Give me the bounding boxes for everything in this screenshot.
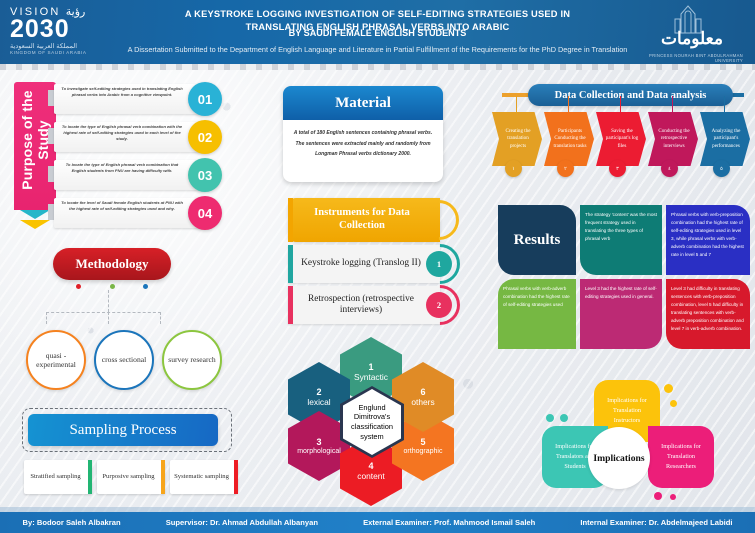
methodology-item-survey-research: survey research — [162, 330, 222, 390]
instrument-edge — [288, 245, 293, 283]
implications-dot-teal-icon — [546, 414, 554, 422]
purpose-item-number: 02 — [188, 120, 222, 154]
purpose-item: To locate the type of English phrasal ve… — [54, 158, 226, 192]
footer-internal-examiner: Internal Examiner: Dr. Abdelmajeed Labid… — [580, 518, 732, 527]
instrument-label: Retrospection (retrospective interviews) — [296, 294, 426, 317]
material-title: Material — [283, 86, 443, 120]
instruments-section: Instruments for Data Collection Keystrok… — [288, 198, 453, 328]
sampling-item-purposive: Purposive sampling — [97, 460, 165, 494]
data-collection-steps: Creating the translation projects ١ Part… — [492, 112, 748, 166]
dca-step-chevron: Conducting the retrospective interviews — [648, 112, 698, 166]
university-name-arabic: معلومات — [661, 29, 723, 49]
material-line: Longman Phrasal verbs dictionary 2000. — [290, 149, 436, 160]
footer-external-examiner: External Examiner: Prof. Mahmood Ismail … — [363, 518, 535, 527]
hex-label: orthographic — [402, 448, 445, 455]
research-poster: VISION رؤية 2030 المملكة العربية السعودي… — [0, 0, 755, 533]
dca-step-stem — [724, 96, 725, 112]
instrument-keystroke-logging: Keystroke logging (Translog II) 1 — [288, 245, 440, 283]
dca-step-creating-projects: Creating the translation projects ١ — [492, 112, 542, 166]
instrument-edge — [288, 286, 293, 324]
poster-header: VISION رؤية 2030 المملكة العربية السعودي… — [0, 0, 755, 64]
instrument-label: Keystroke logging (Translog II) — [301, 258, 421, 269]
hex-number: 3 — [316, 437, 321, 447]
dca-step-chevron: Participants Conducting the translation … — [544, 112, 594, 166]
instrument-retrospection: Retrospection (retrospective interviews)… — [288, 286, 440, 324]
sampling-title: Sampling Process — [28, 414, 218, 446]
footer-author: By: Bodoor Saleh Albakran — [23, 518, 121, 527]
dca-step-retrospective-interviews: Conducting the retrospective interviews … — [648, 112, 698, 166]
dca-step-label: Conducting the retrospective interviews — [656, 128, 692, 151]
kingdom-arabic: المملكة العربية السعودية — [10, 42, 130, 50]
sampling-items: Stratified sampling Purposive sampling S… — [24, 460, 239, 494]
purpose-items-list: To investigate self-editing strategies u… — [54, 82, 226, 234]
instrument-row: Retrospection (retrospective interviews)… — [288, 286, 453, 324]
result-card-verb-adverb: Phrasal verbs with verb-adverb combinati… — [498, 279, 576, 349]
university-logo: معلومات PRINCESS NOURAH BINT ABDULRAHMAN… — [629, 3, 749, 63]
dca-step-label: Creating the translation projects — [500, 128, 536, 151]
implications-dot-pink-icon — [654, 492, 662, 500]
dca-step-stem — [672, 96, 673, 112]
purpose-item-number: 04 — [188, 196, 222, 230]
sampling-item-systematic: Systematic sampling — [170, 460, 238, 494]
purpose-item: To investigate self-editing strategies u… — [54, 82, 226, 116]
data-collection-analysis-section: Data Collection and Data analysis Creati… — [492, 84, 748, 188]
instrument-number-badge: 2 — [426, 292, 452, 318]
material-card: Material A total of 180 English sentence… — [283, 86, 443, 182]
dca-step-stem — [620, 96, 621, 112]
dca-step-label: Participants Conducting the translation … — [552, 128, 588, 151]
dca-step-number: ٤ — [661, 160, 678, 177]
hex-center-label: Englund Dimitrova's classification syste… — [343, 389, 401, 455]
dca-step-conducting-tasks: Participants Conducting the translation … — [544, 112, 594, 166]
implications-dot-yellow-icon — [670, 400, 677, 407]
dot-blue-icon — [143, 284, 148, 289]
classification-hexagon-diagram: 1 Syntactic 2 lexical 3 morphological 4 … — [282, 335, 460, 507]
sampling-item-label: Purposive sampling — [102, 472, 154, 482]
dca-step-stem — [516, 96, 517, 112]
hex-label: others — [409, 398, 436, 407]
dca-step-chevron: Analyzing the participant's performances — [700, 112, 750, 166]
dca-step-stem — [568, 96, 569, 112]
footer-supervisor: Supervisor: Dr. Ahmad Abdullah Albanyan — [166, 518, 318, 527]
dca-step-label: Analyzing the participant's performances — [708, 128, 744, 151]
vision-number: 2030 — [10, 18, 130, 42]
implications-center-label: Implications — [588, 427, 650, 489]
result-card-difficulties: Level 3 had difficulty in translating se… — [666, 279, 750, 349]
result-card-level3-highest: Level 3 had the highest rate of self-edi… — [580, 279, 662, 349]
purpose-item-text: To locate the level of Saudi female Engl… — [58, 200, 186, 212]
instrument-row: Keystroke logging (Translog II) 1 — [288, 245, 453, 283]
kingdom-english: KINGDOM OF SAUDI ARABIA — [10, 50, 130, 55]
purpose-item: To locate the level of Saudi female Engl… — [54, 196, 226, 230]
hex-number: 6 — [420, 387, 425, 397]
methodology-item-cross-sectional: cross sectional — [94, 330, 154, 390]
results-grid: Results The strategy 'content' was the m… — [498, 205, 748, 349]
instruments-title-text: Instruments for Data Collection — [296, 207, 428, 233]
purpose-title: Purpose of the Study — [19, 76, 51, 204]
poster-footer: By: Bodoor Saleh Albakran Supervisor: Dr… — [0, 512, 755, 533]
dca-step-number: ١ — [505, 160, 522, 177]
sampling-process-section: Sampling Process Stratified sampling Pur… — [18, 408, 243, 504]
methodology-dots — [76, 284, 148, 289]
data-collection-title: Data Collection and Data analysis — [528, 84, 733, 106]
purpose-item-text: To locate the type of English phrasal ve… — [58, 124, 186, 143]
methodology-connector-lines — [46, 290, 161, 324]
implication-translation-researchers: Implications for Translation Researchers — [648, 426, 714, 488]
poster-subtitle: BY SAUDI FEMALE ENGLISH STUDENTS — [150, 28, 605, 38]
dca-step-label: Saving the participant's log files — [604, 128, 640, 151]
university-name-english: PRINCESS NOURAH BINT ABDULRAHMAN UNIVERS… — [629, 53, 743, 63]
instruments-header-row: Instruments for Data Collection — [288, 198, 453, 242]
methodology-title: Methodology — [53, 248, 171, 280]
methodology-section: Methodology quasi - experimental cross s… — [20, 248, 250, 398]
instruments-title-edge — [288, 198, 293, 242]
purpose-item-text: To investigate self-editing strategies u… — [58, 86, 186, 98]
instruments-title: Instruments for Data Collection — [288, 198, 440, 242]
results-title: Results — [498, 205, 576, 275]
methodology-items: quasi - experimental cross sectional sur… — [26, 330, 246, 390]
dot-green-icon — [110, 284, 115, 289]
dca-step-saving-logs: Saving the participant's log files ٣ — [596, 112, 646, 166]
hex-label: morphological — [295, 448, 343, 455]
purpose-item: To locate the type of English phrasal ve… — [54, 120, 226, 154]
sampling-item-label: Stratified sampling — [30, 472, 80, 482]
sampling-item-label: Systematic sampling — [174, 472, 229, 482]
hex-label: Syntactic — [352, 373, 390, 382]
implications-dot-teal-icon — [560, 414, 568, 422]
dca-step-chevron: Creating the translation projects — [492, 112, 542, 166]
hex-number: 1 — [368, 362, 373, 372]
hex-label: content — [355, 472, 386, 481]
purpose-of-study-section: Purpose of the Study To investigate self… — [14, 82, 226, 234]
methodology-item-quasi-experimental: quasi - experimental — [26, 330, 86, 390]
purpose-item-number: 03 — [188, 158, 222, 192]
dca-step-chevron: Saving the participant's log files — [596, 112, 646, 166]
poster-dissertation-note: A Dissertation Submitted to the Departme… — [120, 45, 635, 54]
dot-red-icon — [76, 284, 81, 289]
implications-dot-yellow-icon — [664, 384, 673, 393]
hex-number: 4 — [368, 461, 373, 471]
vision-2030-logo: VISION رؤية 2030 المملكة العربية السعودي… — [10, 5, 130, 55]
result-card-content-strategy: The strategy 'content' was the most freq… — [580, 205, 662, 275]
material-section: Material A total of 180 English sentence… — [283, 86, 443, 182]
implications-section: Implications for Translation Instructors… — [536, 378, 748, 506]
material-line: A total of 180 English sentences contain… — [290, 128, 436, 139]
material-body: A total of 180 English sentences contain… — [283, 120, 443, 160]
purpose-item-text: To locate the type of English phrasal ve… — [58, 162, 186, 174]
implications-dot-pink-icon — [670, 494, 676, 500]
hex-label: lexical — [305, 398, 332, 407]
instrument-number-badge: 1 — [426, 251, 452, 277]
dca-step-number: ٥ — [713, 160, 730, 177]
results-section: Results The strategy 'content' was the m… — [498, 205, 748, 360]
material-line: The sentences were extracted mainly and … — [290, 139, 436, 150]
hex-number: 2 — [316, 387, 321, 397]
hex-number: 5 — [420, 437, 425, 447]
sampling-item-stratified: Stratified sampling — [24, 460, 92, 494]
result-card-preposition-levels: Phrasal verbs with verb-preposition comb… — [666, 205, 750, 275]
dca-step-analyzing-performance: Analyzing the participant's performances… — [700, 112, 750, 166]
ribbon-tail-decoration — [20, 210, 50, 230]
dca-step-number: ٣ — [609, 160, 626, 177]
purpose-item-number: 01 — [188, 82, 222, 116]
dca-step-number: ٢ — [557, 160, 574, 177]
